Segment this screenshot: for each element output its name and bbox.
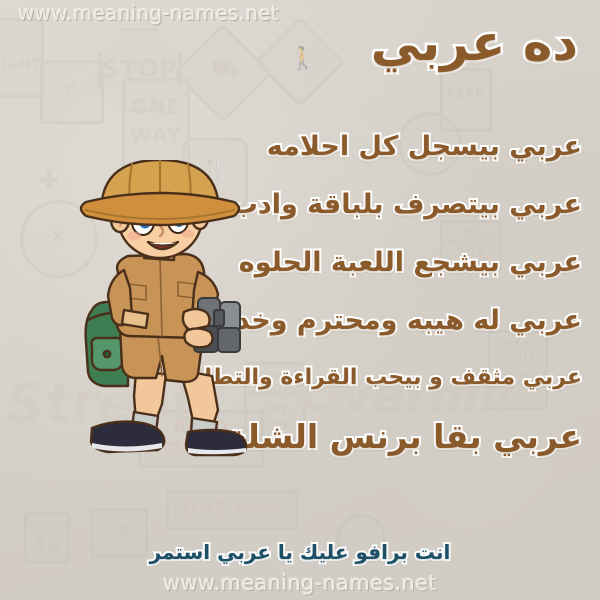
right-turn-sign-bg: ↱ <box>40 60 104 124</box>
footer-message: انت برافو عليك يا عربي استمر <box>0 540 600 564</box>
one-way-bottom-sign-bg: ONE WAY <box>166 490 298 530</box>
bottom-watermark: www.meaning-names.net <box>163 571 437 595</box>
right-arrow-sign-bg: RIGHT <box>0 18 44 98</box>
safari-explorer-boy-illustration <box>62 160 272 460</box>
name-meaning-card: STOP ONE WAY ← ⛟ 🚶 ↱ RIGHT 🍴 ✕ ✚ <box>0 0 600 600</box>
page-title: ده عربي <box>371 18 578 68</box>
pedestrian-crossing-sign-bg: 🚶 <box>255 17 346 108</box>
slippery-road-sign-bg: ⛟ <box>174 24 273 123</box>
top-watermark: www.meaning-names.net <box>18 1 279 25</box>
stop-sign-bg: STOP <box>98 28 182 112</box>
